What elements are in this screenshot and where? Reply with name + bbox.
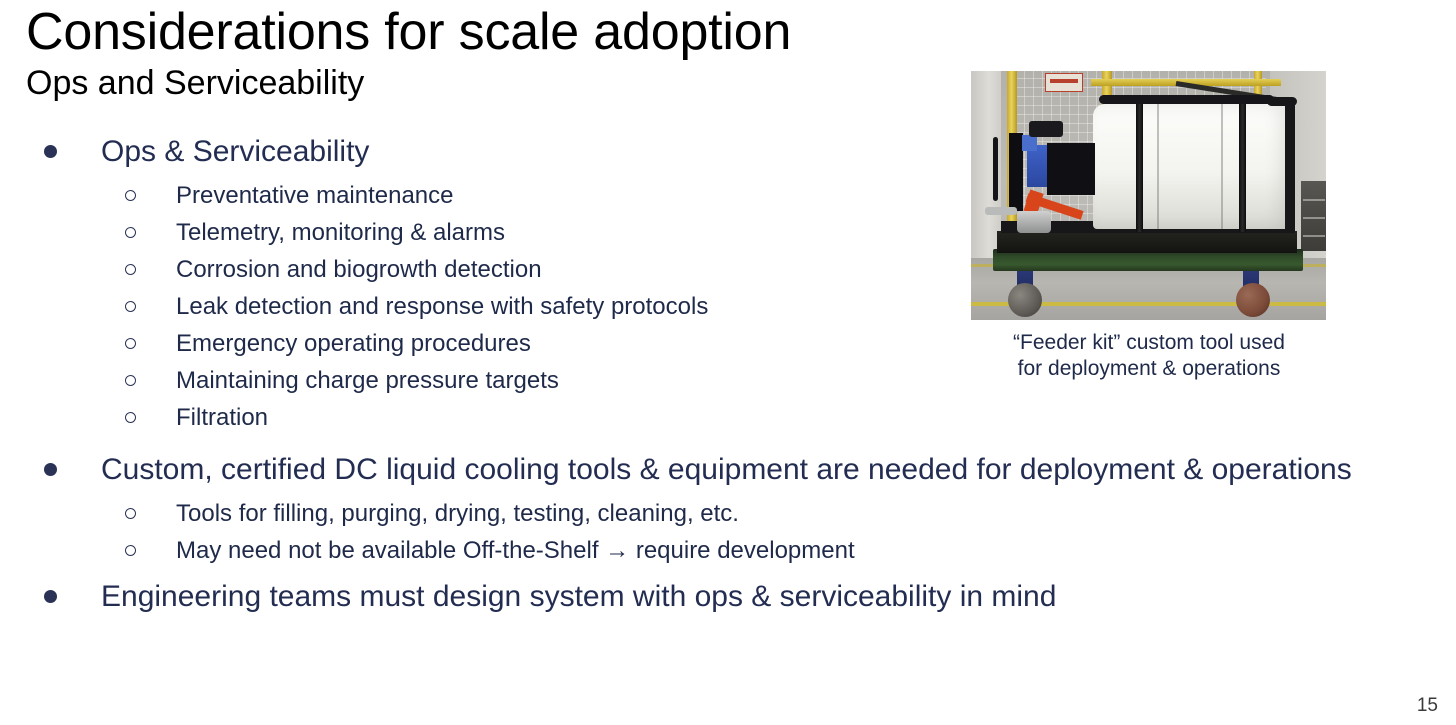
tank-strap — [1136, 99, 1143, 232]
bullet-level2: Tools for filling, purging, drying, test… — [26, 495, 1416, 532]
figure-caption-line-2: for deployment & operations — [971, 356, 1327, 382]
filled-bullet-icon — [44, 573, 60, 620]
white-tank — [1093, 104, 1291, 229]
filled-bullet-icon — [44, 128, 60, 175]
bullet-level2-label: May need not be available Off-the-Shelf … — [176, 537, 855, 564]
tank-seam — [1221, 104, 1223, 229]
page-number: 15 — [1417, 695, 1438, 717]
background-crate — [1301, 181, 1326, 251]
warning-sign — [1045, 73, 1083, 92]
bullet-level2: May need not be available Off-the-Shelf … — [26, 532, 1416, 569]
photo-image — [971, 71, 1326, 320]
caster-wheel — [1236, 283, 1270, 317]
cart-handle-bar — [1285, 99, 1295, 233]
bullet-level1: Custom, certified DC liquid cooling tool… — [26, 446, 1416, 493]
tank-strap — [1239, 99, 1246, 232]
valve-assembly — [1029, 121, 1063, 137]
bullet-level2-label: Preventative maintenance — [176, 182, 454, 209]
bullet-level1-label: Custom, certified DC liquid cooling tool… — [101, 453, 1352, 486]
caster-wheel — [1008, 283, 1042, 317]
hollow-bullet-icon — [125, 251, 139, 288]
cart-handle-top — [1267, 97, 1297, 106]
bullet-level1-label: Ops & Serviceability — [101, 135, 369, 168]
hollow-bullet-icon — [125, 495, 139, 532]
pump-enclosure — [1047, 143, 1095, 195]
bullet-level2-label: Corrosion and biogrowth detection — [176, 256, 542, 283]
hollow-bullet-icon — [125, 325, 139, 362]
tank-seam — [1157, 104, 1159, 229]
outlet-spout — [985, 207, 1017, 215]
hollow-bullet-icon — [125, 288, 139, 325]
hollow-bullet-icon — [125, 177, 139, 214]
figure-caption-line-1: “Feeder kit” custom tool used — [971, 330, 1327, 356]
figure-caption: “Feeder kit” custom tool used for deploy… — [971, 330, 1327, 382]
bullet-level2: Filtration — [26, 399, 1416, 436]
bullet-group: Engineering teams must design system wit… — [26, 573, 1416, 620]
bullet-level2-label: Maintaining charge pressure targets — [176, 367, 559, 394]
pump-motor — [1017, 211, 1051, 233]
background-crate-line — [1303, 217, 1325, 219]
bullet-level2-label: Telemetry, monitoring & alarms — [176, 219, 505, 246]
hollow-bullet-icon — [125, 214, 139, 251]
hose — [993, 137, 998, 201]
page-title: Considerations for scale adoption — [26, 2, 956, 62]
bullet-level2-label: Tools for filling, purging, drying, test… — [176, 500, 739, 527]
hollow-bullet-icon — [125, 399, 139, 436]
figure-feeder-kit — [971, 71, 1326, 320]
bullet-group: Custom, certified DC liquid cooling tool… — [26, 446, 1416, 569]
sub-bullet-list: Tools for filling, purging, drying, test… — [26, 495, 1416, 569]
cart-frame-deck — [997, 231, 1297, 253]
top-hose — [1099, 95, 1274, 104]
blue-component — [1027, 145, 1047, 187]
background-crate-line — [1303, 199, 1325, 201]
page-subtitle: Ops and Serviceability — [26, 62, 956, 104]
hollow-bullet-icon — [125, 532, 139, 569]
filled-bullet-icon — [44, 446, 60, 493]
bullet-level1: Engineering teams must design system wit… — [26, 573, 1416, 620]
blue-component — [1022, 135, 1037, 151]
bullet-level2-label: Filtration — [176, 404, 268, 431]
background-crate-line — [1303, 235, 1325, 237]
control-tower — [1009, 133, 1023, 211]
bullet-level2-label: Leak detection and response with safety … — [176, 293, 708, 320]
title-block: Considerations for scale adoption Ops an… — [26, 2, 956, 104]
bullet-level1-label: Engineering teams must design system wit… — [101, 580, 1056, 613]
hollow-bullet-icon — [125, 362, 139, 399]
bullet-level2-label: Emergency operating procedures — [176, 330, 531, 357]
